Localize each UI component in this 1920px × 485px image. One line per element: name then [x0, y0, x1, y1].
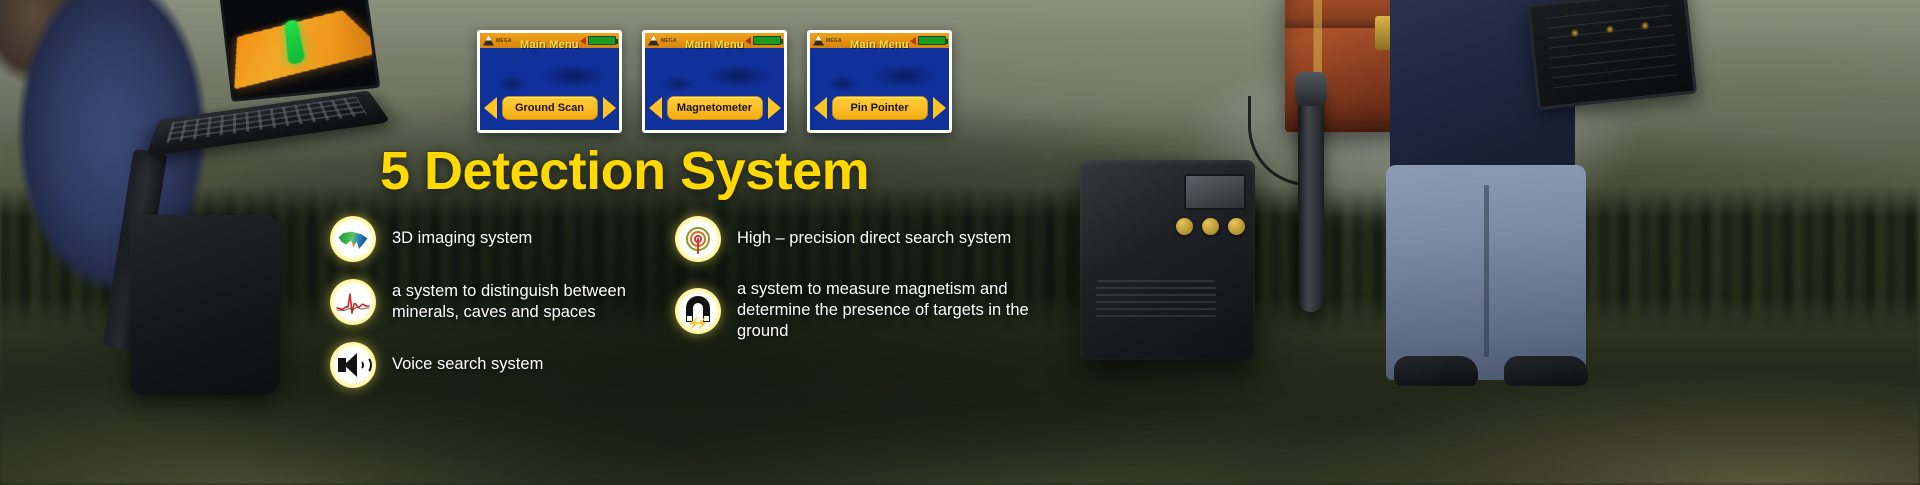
feature-item-magnetism: ⚡⚡ a system to measure magnetism and det…	[675, 279, 1075, 342]
3d-imaging-icon	[330, 216, 376, 262]
operator-shoe-left	[1394, 356, 1478, 386]
laptop-keyboard	[166, 97, 367, 143]
mode-button[interactable]: Ground Scan	[502, 96, 598, 120]
waveform-icon	[330, 279, 376, 325]
feature-label: a system to distinguish between minerals…	[392, 281, 660, 323]
waveform-glyph	[336, 289, 370, 315]
chevron-left-icon[interactable]	[649, 97, 662, 119]
detector-vent-grill	[1096, 280, 1216, 320]
mode-selector[interactable]: Magnetometer	[645, 96, 784, 120]
feature-label: 3D imaging system	[392, 228, 532, 249]
3d-scan-visualization	[234, 10, 380, 89]
chevron-right-icon[interactable]	[768, 97, 781, 119]
handheld-tablet	[1527, 0, 1697, 110]
device-menu-cards: MEGA Main Menu Ground Scan MEGA	[477, 30, 952, 133]
feature-item-voice-search: Voice search system	[330, 342, 660, 388]
banner-headline: 5 Detection System	[380, 140, 869, 202]
card-body	[810, 48, 949, 133]
device-card-ground-scan[interactable]: MEGA Main Menu Ground Scan	[477, 30, 622, 133]
operator-shoe-right	[1504, 356, 1588, 386]
card-menu-title: Main Menu	[645, 39, 784, 51]
feature-label: a system to measure magnetism and determ…	[737, 279, 1075, 342]
chevron-right-icon[interactable]	[933, 97, 946, 119]
chevron-left-icon[interactable]	[484, 97, 497, 119]
magnet-icon: ⚡⚡	[675, 288, 721, 334]
mode-selector[interactable]: Ground Scan	[480, 96, 619, 120]
feature-column-left: 3D imaging system a system to distinguis…	[330, 216, 660, 405]
mode-button[interactable]: Magnetometer	[667, 96, 763, 120]
detector-display	[1184, 174, 1246, 210]
device-card-magnetometer[interactable]: MEGA Main Menu Magnetometer	[642, 30, 787, 133]
feature-item-mineral-discrimination: a system to distinguish between minerals…	[330, 279, 660, 325]
speaker-icon	[330, 342, 376, 388]
chevron-right-icon[interactable]	[603, 97, 616, 119]
mode-button[interactable]: Pin Pointer	[832, 96, 928, 120]
detection-system-banner: MEGA Main Menu Ground Scan MEGA	[0, 0, 1920, 485]
chevron-left-icon[interactable]	[814, 97, 827, 119]
tablet-screen-ui	[1545, 5, 1678, 94]
card-body	[645, 48, 784, 133]
card-body	[480, 48, 619, 133]
card-menu-title: Main Menu	[810, 39, 949, 51]
knob	[1202, 218, 1219, 235]
pinpointer-probe	[1298, 82, 1324, 312]
operator-right-photo	[1360, 0, 1690, 400]
mode-selector[interactable]: Pin Pointer	[810, 96, 949, 120]
detector-knobs	[1176, 218, 1245, 235]
detector-main-unit	[1080, 160, 1255, 360]
signal-antenna-icon	[675, 216, 721, 262]
feature-label: Voice search system	[392, 354, 543, 375]
equipment-bag	[130, 215, 280, 395]
knob	[1228, 218, 1245, 235]
feature-column-right: High – precision direct search system ⚡⚡…	[675, 216, 1075, 359]
feature-label: High – precision direct search system	[737, 228, 1011, 249]
feature-item-high-precision: High – precision direct search system	[675, 216, 1075, 262]
laptop-screen	[219, 0, 380, 102]
knob	[1176, 218, 1193, 235]
card-menu-title: Main Menu	[480, 39, 619, 51]
operator-jeans	[1386, 165, 1586, 380]
feature-item-3d-imaging: 3D imaging system	[330, 216, 660, 262]
device-card-pin-pointer[interactable]: MEGA Main Menu Pin Pointer	[807, 30, 952, 133]
